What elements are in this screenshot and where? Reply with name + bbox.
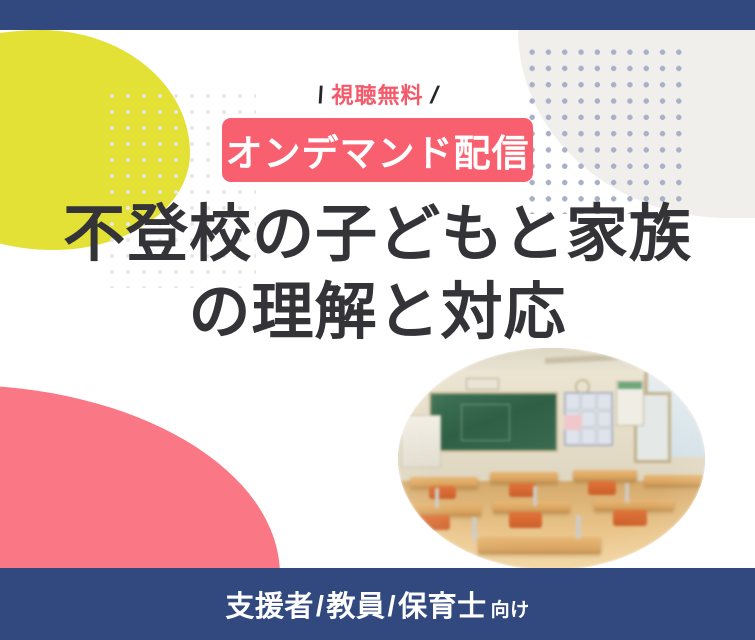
- slash-left-icon: \: [313, 82, 328, 110]
- ondemand-badge-label: オンデマンド配信: [226, 123, 530, 177]
- promo-banner: \視聴無料/ オンデマンド配信 不登校の子どもと家族 の理解と対応 支援者/教員…: [0, 0, 755, 640]
- headline-line-1: 不登校の子どもと家族: [0, 198, 755, 271]
- audience-separator-2: /: [388, 591, 397, 623]
- slash-right-icon: /: [427, 82, 442, 110]
- free-viewing-text: 視聴無料: [331, 83, 423, 108]
- audience-teacher: 教員: [326, 591, 385, 623]
- ondemand-badge: オンデマンド配信: [222, 118, 533, 182]
- free-viewing-label: \視聴無料/: [0, 78, 755, 110]
- headline: 不登校の子どもと家族 の理解と対応: [0, 198, 755, 349]
- audience-supporter: 支援者: [225, 591, 314, 623]
- bottom-audience-bar: 支援者/教員/保育士向け: [0, 568, 755, 640]
- banner-content: \視聴無料/ オンデマンド配信 不登校の子どもと家族 の理解と対応: [0, 0, 755, 640]
- audience-text: 支援者/教員/保育士向け: [225, 583, 529, 625]
- audience-suffix: 向け: [491, 600, 530, 621]
- headline-line-2: の理解と対応: [0, 276, 755, 349]
- audience-childcare: 保育士: [398, 591, 487, 623]
- audience-separator-1: /: [316, 591, 325, 623]
